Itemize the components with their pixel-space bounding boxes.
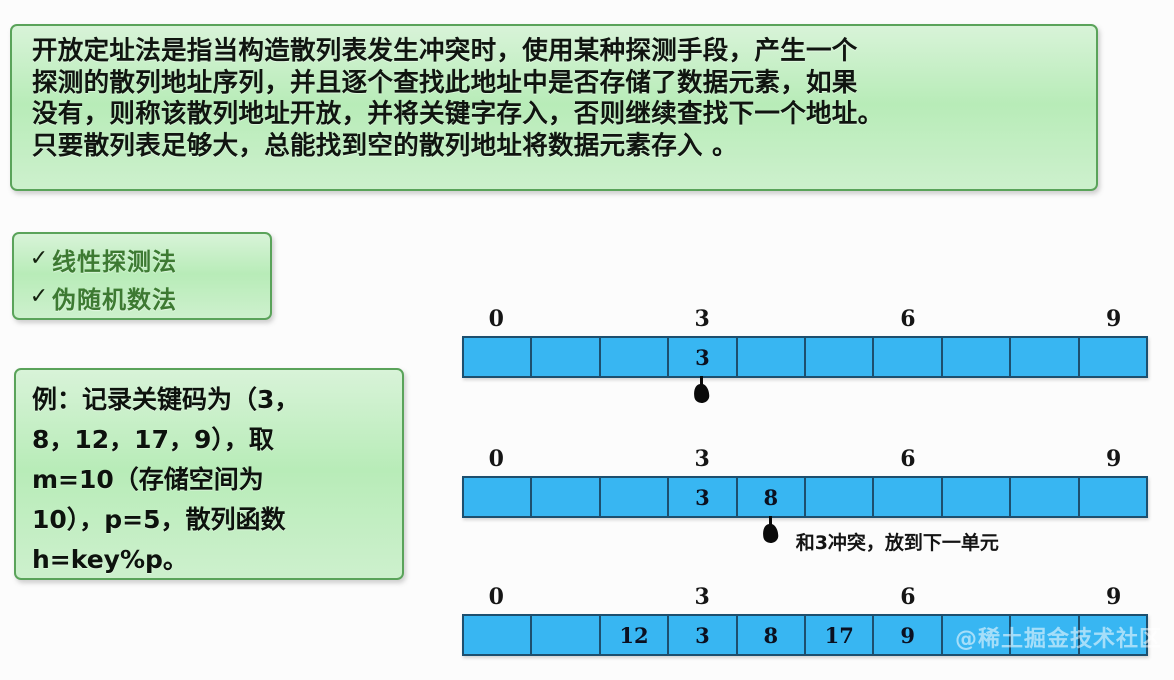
index-label-0: 0 xyxy=(462,306,531,332)
check-icon: ✓ xyxy=(26,248,52,270)
index-label-0: 0 xyxy=(462,584,531,610)
index-label-3: 3 xyxy=(668,306,737,332)
hash-slot-2[interactable] xyxy=(601,338,669,376)
hash-slot-1[interactable] xyxy=(532,338,600,376)
collision-annotation: 和3冲突，放到下一单元 xyxy=(796,528,999,555)
pointer-cursor-icon xyxy=(693,376,711,406)
hash-slot-5[interactable]: 17 xyxy=(806,616,874,654)
hash-slot-1[interactable] xyxy=(532,478,600,516)
index-axis: 0369 xyxy=(462,584,1148,614)
hash-slot-0[interactable] xyxy=(464,616,532,654)
hash-slot-1[interactable] xyxy=(532,616,600,654)
index-axis: 0369 xyxy=(462,306,1148,336)
example-line-3: m=10（存储空间为 xyxy=(32,460,392,500)
methods-panel: ✓ 线性探测法 ✓ 伪随机数法 xyxy=(12,232,272,320)
definition-line-2: 探测的散列地址序列，并且逐个查找此地址中是否存储了数据元素，如果 xyxy=(32,68,1082,100)
example-panel: 例：记录关键码为（3， 8，12，17，9），取 m=10（存储空间为 10），… xyxy=(14,368,404,580)
hash-slot-9[interactable] xyxy=(1080,616,1146,654)
pointer-cursor-icon xyxy=(762,516,780,546)
index-label-3: 3 xyxy=(668,584,737,610)
hash-slot-7[interactable] xyxy=(943,338,1011,376)
hash-slot-5[interactable] xyxy=(806,478,874,516)
hash-slot-2[interactable] xyxy=(601,478,669,516)
method-item-linear-probing: ✓ 线性探测法 xyxy=(26,240,262,278)
example-line-5: h=key%p。 xyxy=(32,540,392,580)
hash-slot-8[interactable] xyxy=(1011,616,1079,654)
hash-slot-8[interactable] xyxy=(1011,338,1079,376)
pointer-head xyxy=(762,523,779,543)
hash-slot-3[interactable]: 3 xyxy=(669,338,737,376)
hash-slot-0[interactable] xyxy=(464,478,532,516)
method-label: 伪随机数法 xyxy=(52,280,177,315)
definition-line-3: 没有，则称该散列地址开放，并将关键字存入，否则继续查找下一个地址。 xyxy=(32,99,1082,131)
check-icon: ✓ xyxy=(26,286,52,308)
hash-table-step-2: 036938和3冲突，放到下一单元 xyxy=(462,446,1148,518)
hash-slot-row: 3 xyxy=(462,336,1148,378)
hash-slot-7[interactable] xyxy=(943,616,1011,654)
index-label-9: 9 xyxy=(1079,584,1148,610)
index-label-6: 6 xyxy=(874,584,943,610)
hash-slot-6[interactable] xyxy=(874,478,942,516)
example-line-2: 8，12，17，9），取 xyxy=(32,420,392,460)
hash-slot-7[interactable] xyxy=(943,478,1011,516)
hash-slot-0[interactable] xyxy=(464,338,532,376)
method-item-pseudorandom: ✓ 伪随机数法 xyxy=(26,278,262,316)
definition-line-4: 只要散列表足够大，总能找到空的散列地址将数据元素存入 。 xyxy=(32,131,1082,163)
definition-panel: 开放定址法是指当构造散列表发生冲突时，使用某种探测手段，产生一个 探测的散列地址… xyxy=(10,24,1098,191)
hash-slot-3[interactable]: 3 xyxy=(669,478,737,516)
hash-slot-row: 38 xyxy=(462,476,1148,518)
hash-table-step-1: 03693 xyxy=(462,306,1148,378)
hash-slot-4[interactable]: 8 xyxy=(738,478,806,516)
hash-slot-4[interactable]: 8 xyxy=(738,616,806,654)
hash-slot-8[interactable] xyxy=(1011,478,1079,516)
hash-table-step-3: 03691238179 xyxy=(462,584,1148,656)
index-label-6: 6 xyxy=(874,446,943,472)
method-label: 线性探测法 xyxy=(52,242,177,277)
hash-slot-6[interactable] xyxy=(874,338,942,376)
hash-slot-5[interactable] xyxy=(806,338,874,376)
index-label-0: 0 xyxy=(462,446,531,472)
example-line-4: 10），p=5，散列函数 xyxy=(32,500,392,540)
index-label-9: 9 xyxy=(1079,306,1148,332)
example-line-1: 例：记录关键码为（3， xyxy=(32,380,392,420)
hash-slot-2[interactable]: 12 xyxy=(601,616,669,654)
index-label-3: 3 xyxy=(668,446,737,472)
hash-slot-3[interactable]: 3 xyxy=(669,616,737,654)
hash-slot-9[interactable] xyxy=(1080,478,1146,516)
hash-slot-4[interactable] xyxy=(738,338,806,376)
index-label-9: 9 xyxy=(1079,446,1148,472)
definition-line-1: 开放定址法是指当构造散列表发生冲突时，使用某种探测手段，产生一个 xyxy=(32,36,1082,68)
pointer-head xyxy=(693,383,710,403)
hash-slot-row: 1238179 xyxy=(462,614,1148,656)
hash-slot-6[interactable]: 9 xyxy=(874,616,942,654)
index-axis: 0369 xyxy=(462,446,1148,476)
index-label-6: 6 xyxy=(874,306,943,332)
hash-slot-9[interactable] xyxy=(1080,338,1146,376)
